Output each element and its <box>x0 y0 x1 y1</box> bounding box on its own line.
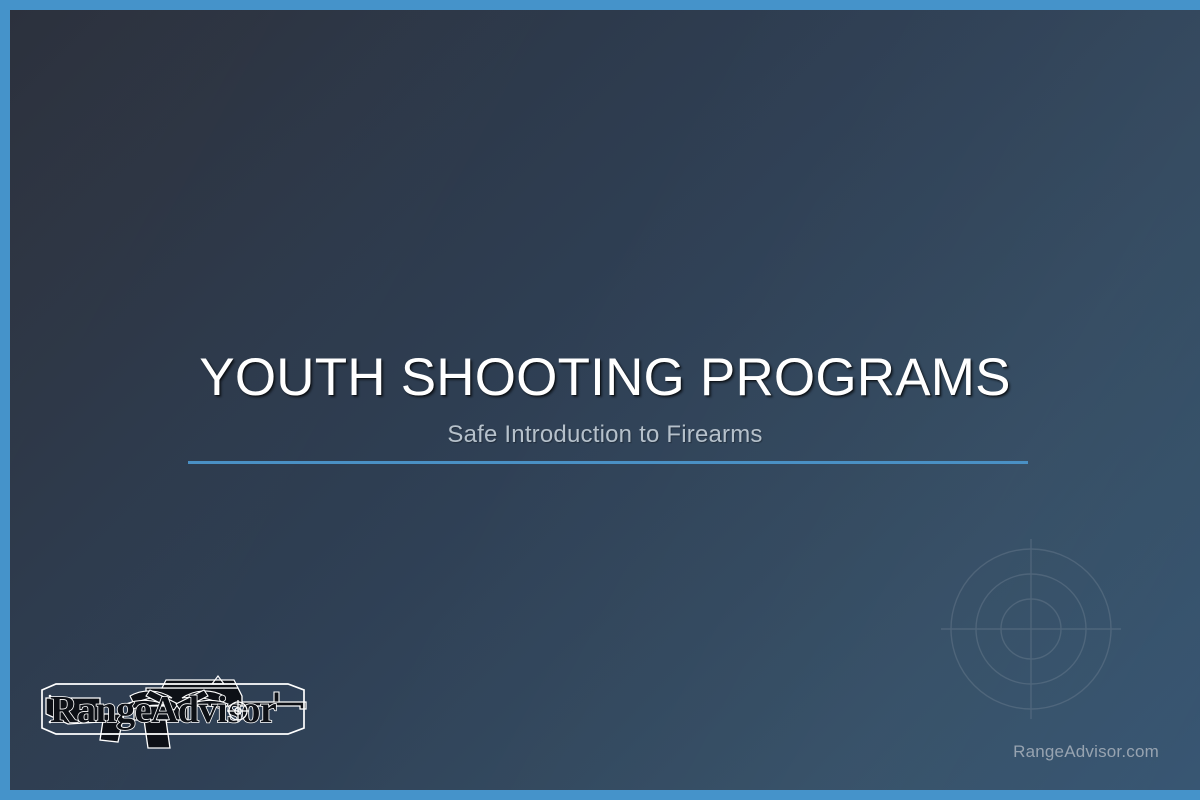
footer-url: RangeAdvisor.com <box>1013 742 1159 762</box>
crosshair-target-icon <box>921 519 1141 739</box>
title-slide: YOUTH SHOOTING PROGRAMS Safe Introductio… <box>0 0 1200 800</box>
page-title: YOUTH SHOOTING PROGRAMS <box>10 348 1200 408</box>
logo-wordmark: RangeAdvisor <box>50 689 277 731</box>
brand-logo: RangeAdvisor <box>38 662 316 754</box>
title-block: YOUTH SHOOTING PROGRAMS Safe Introductio… <box>10 348 1200 450</box>
title-divider-rule <box>188 461 1028 464</box>
page-subtitle: Safe Introduction to Firearms <box>10 420 1200 450</box>
slide-canvas: YOUTH SHOOTING PROGRAMS Safe Introductio… <box>10 10 1200 790</box>
